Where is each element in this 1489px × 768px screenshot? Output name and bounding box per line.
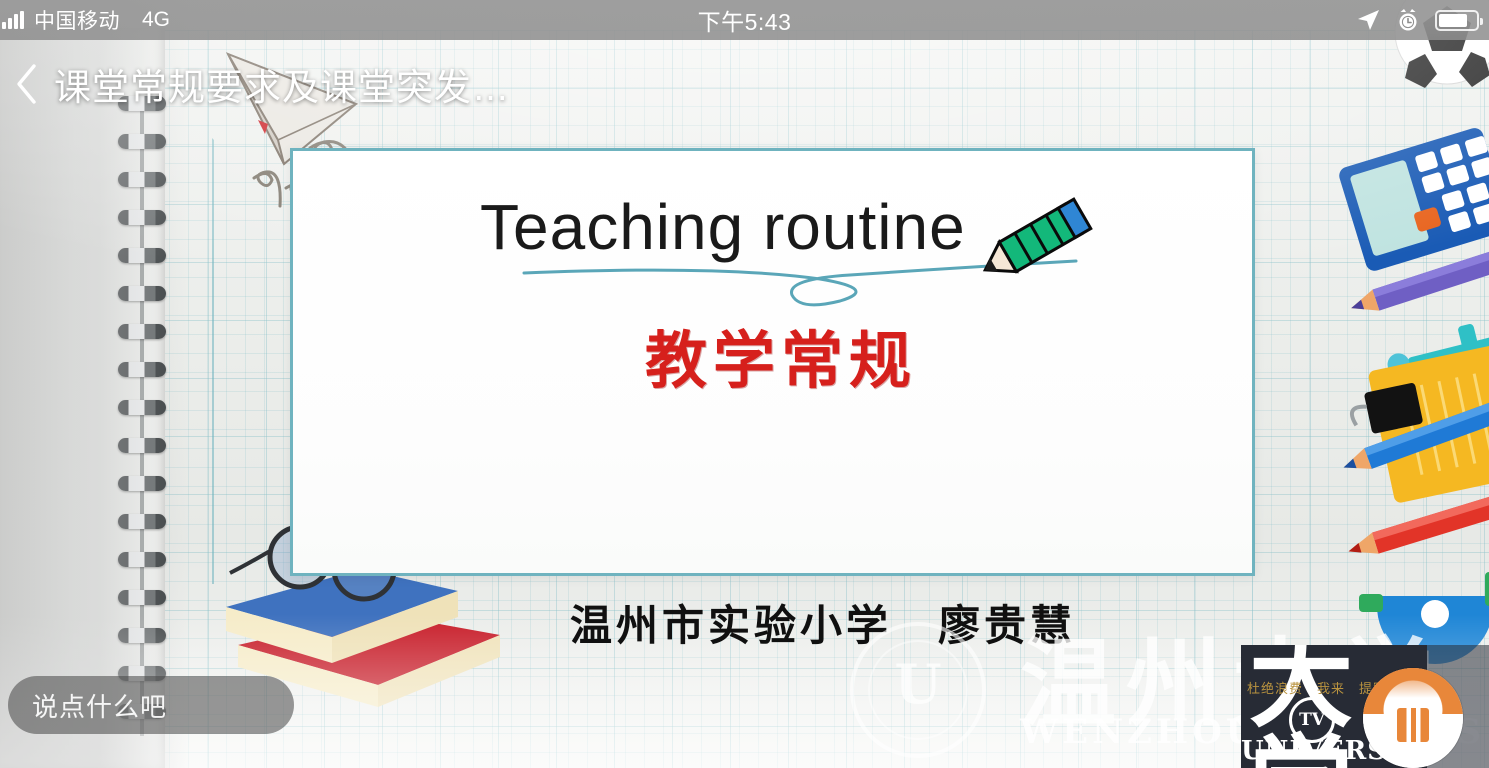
spiral-ring <box>118 552 166 567</box>
battery-icon <box>1435 10 1479 31</box>
spiral-ring <box>118 210 166 225</box>
spiral-ring <box>118 514 166 529</box>
page-title: 课堂常规要求及课堂突发… <box>54 57 510 111</box>
avatar-image <box>1363 668 1463 768</box>
spiral-ring <box>118 172 166 187</box>
spiral-ring <box>118 438 166 453</box>
clock-label: 下午5:43 <box>0 3 1489 37</box>
app-screen: Teaching routine 教学常规 温州市实验小学 廖贵慧 <box>0 0 1489 768</box>
slide-chinese-title: 教学常规 <box>645 310 917 400</box>
avatar-mark <box>1397 708 1429 742</box>
spiral-ring <box>118 248 166 263</box>
spiral-ring <box>118 134 166 149</box>
slide-english-title: Teaching routine <box>480 190 966 264</box>
comment-input[interactable]: 说点什么吧 <box>8 676 294 734</box>
spiral-ring <box>118 362 166 377</box>
spiral-ring <box>118 286 166 301</box>
spiral-ring <box>118 400 166 415</box>
avatar[interactable] <box>1363 668 1463 768</box>
spiral-ring <box>118 590 166 605</box>
status-bar: 中国移动 4G 下午5:43 <box>0 0 1489 40</box>
comment-placeholder: 说点什么吧 <box>32 687 167 724</box>
alarm-clock-icon <box>1395 7 1421 33</box>
spiral-ring <box>118 628 166 643</box>
location-arrow-icon <box>1355 7 1381 33</box>
spiral-ring <box>118 324 166 339</box>
chevron-left-icon <box>14 62 40 106</box>
avatar-top-band <box>1363 668 1463 698</box>
green-pencil-icon <box>975 190 1095 290</box>
slide-footer-credit: 温州市实验小学 廖贵慧 <box>570 592 1076 653</box>
back-button[interactable] <box>0 49 54 119</box>
spiral-ring <box>118 476 166 491</box>
status-bar-right <box>1355 7 1479 33</box>
spiral-binding-rings <box>118 96 166 736</box>
